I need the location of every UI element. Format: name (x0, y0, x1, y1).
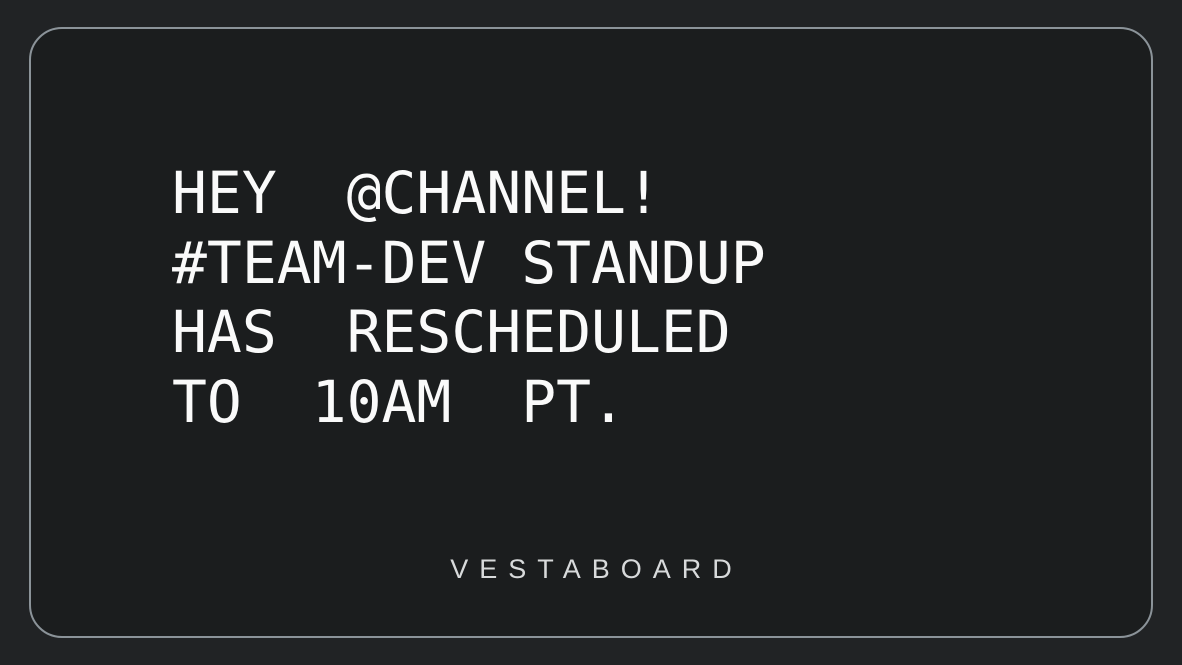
brandmark-label: VESTABOARD (439, 554, 743, 585)
message-line: HAS RESCHEDULED (172, 298, 1032, 368)
brandmark: VESTABOARD (31, 554, 1151, 585)
vestaboard-board-surface: HEY @CHANNEL! #TEAM-DEV STANDUP HAS RESC… (31, 29, 1151, 636)
message-line: TO 10AM PT. (172, 368, 1032, 438)
message-line: HEY @CHANNEL! (172, 159, 1032, 229)
message-text-block: HEY @CHANNEL! #TEAM-DEV STANDUP HAS RESC… (172, 159, 1032, 437)
vestaboard-display-frame: HEY @CHANNEL! #TEAM-DEV STANDUP HAS RESC… (29, 27, 1153, 638)
message-line: #TEAM-DEV STANDUP (172, 229, 1032, 299)
